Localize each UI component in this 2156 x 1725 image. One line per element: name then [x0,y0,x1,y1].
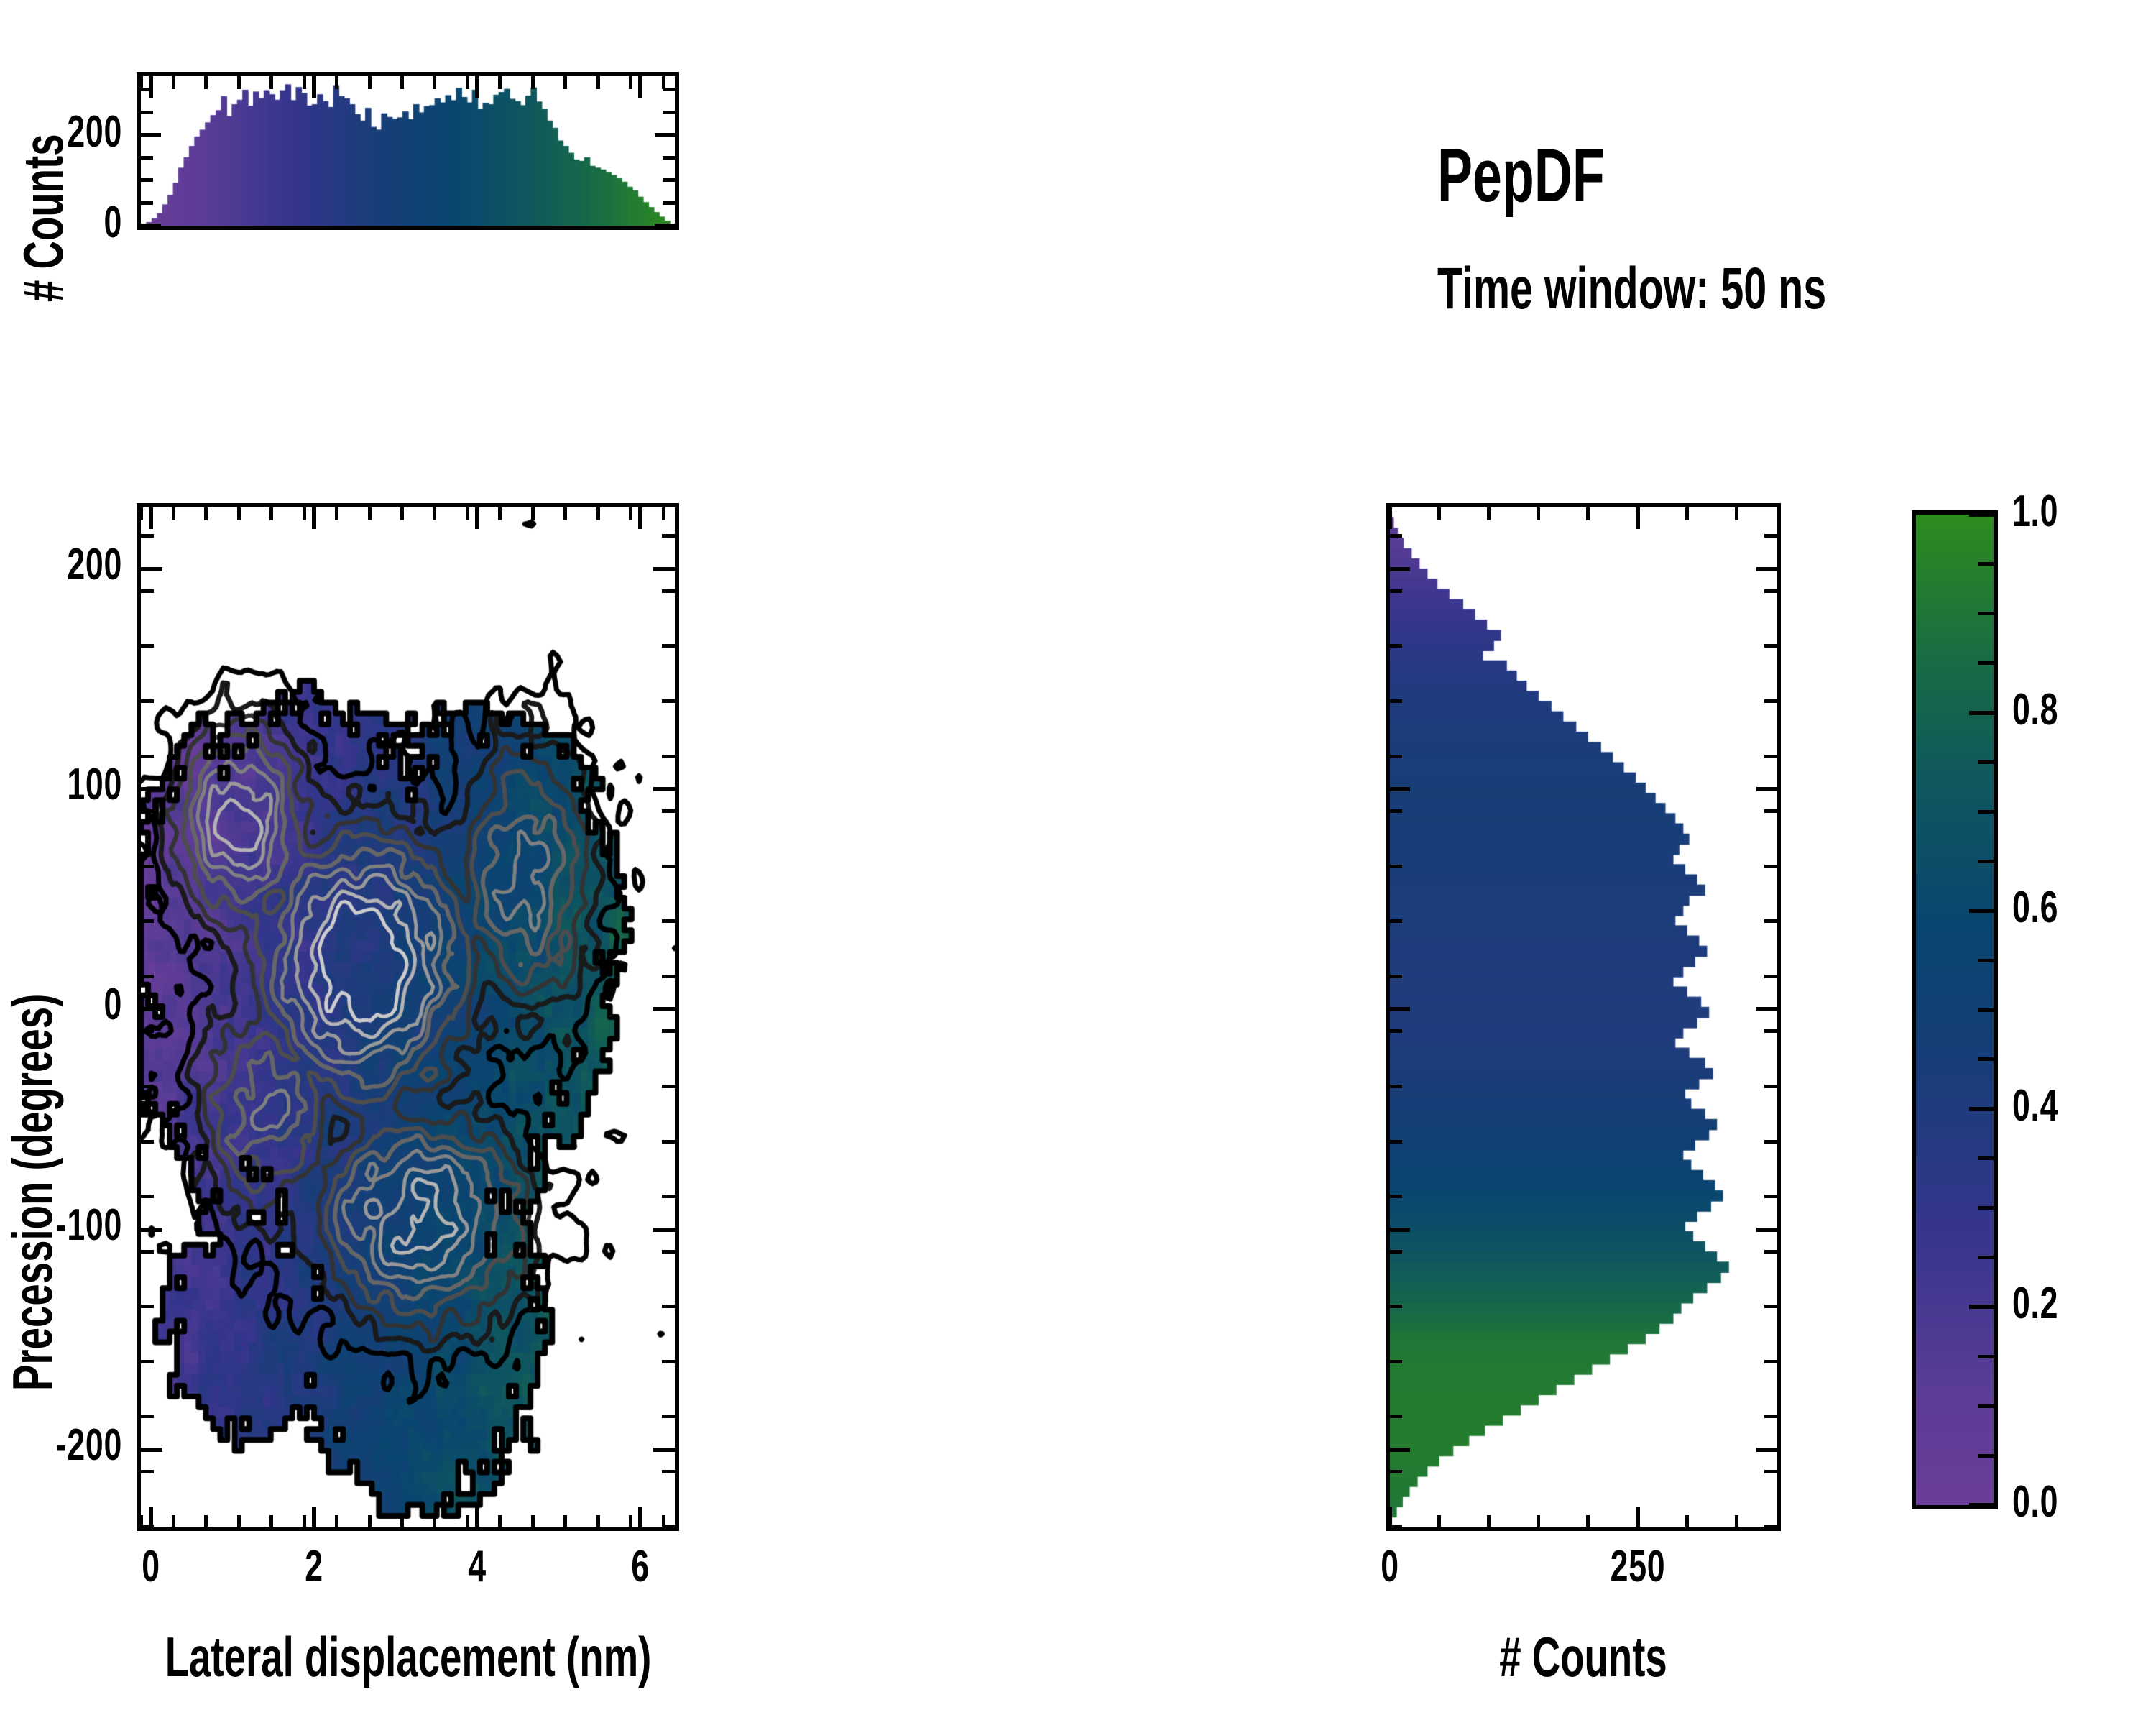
axis-tick [1487,507,1491,520]
axis-tick [1390,644,1402,648]
axis-tick [312,507,316,529]
axis-tick [475,507,479,529]
axis-tick [368,76,372,89]
axis-tick [531,1515,535,1528]
contour-overlay-canvas [141,507,675,1527]
axis-tick [1978,1404,1994,1408]
axis-tick [653,567,675,571]
main-xlabel: Lateral displacement (nm) [147,1624,670,1690]
axis-tick [141,1360,154,1363]
axis-tick [662,919,675,923]
axis-tick [400,507,404,520]
axis-tick [1978,562,1994,566]
axis-tick [139,76,143,89]
axis-tick [141,1228,162,1232]
colorbar-tick-label: 0.2 [2012,1278,2132,1329]
axis-tick [466,1515,469,1528]
colorbar-tick-label: 0.6 [2012,882,2132,933]
axis-tick [662,1470,675,1473]
axis-tick [141,111,153,114]
axis-tick [141,1195,154,1198]
axis-tick [466,76,469,89]
axis-tick [1390,1250,1402,1253]
axis-tick [141,156,153,160]
axis-tick [1390,975,1402,978]
right-histogram-canvas [1390,507,1777,1527]
axis-tick [1764,755,1777,758]
axis-tick [1764,975,1777,978]
axis-tick [638,507,642,529]
axis-tick [1764,1525,1777,1529]
axis-tick [141,1029,154,1033]
axis-tick [1390,589,1402,593]
axis-tick [269,507,273,520]
axis-tick [1390,1525,1402,1529]
axis-tick [596,1515,600,1528]
axis-tick [1437,1515,1441,1528]
figure-root: 0200 # Counts 02462001000-100-200 Latera… [0,0,2156,1725]
axis-tick [1756,1448,1777,1452]
axis-tick [1978,760,1994,764]
axis-tick [563,76,567,89]
axis-tick [563,1515,567,1528]
axis-tick [303,1515,306,1528]
axis-tick [237,507,241,520]
axis-tick [498,507,502,520]
axis-tick [1586,507,1590,520]
axis-tick [1437,507,1441,520]
colorbar-tick-label: 1.0 [2012,486,2132,537]
axis-tick [1390,809,1402,813]
axis-tick [1537,507,1540,520]
axis-tick [662,76,665,89]
axis-tick [1756,787,1777,791]
axis-tick [1735,507,1738,520]
axis-tick [433,507,436,520]
axis-tick [1764,589,1777,593]
main-ylabel: Precession (degrees) [0,994,65,1391]
axis-tick [662,1085,675,1088]
axis-tick [662,1305,675,1308]
axis-tick [1487,1515,1491,1528]
axis-tick [655,224,675,228]
axis-tick [629,76,632,89]
right-x-tick-label: 0 [1333,1541,1447,1592]
axis-tick [335,76,338,89]
axis-tick [662,507,665,520]
axis-tick [638,76,642,98]
axis-tick [141,133,161,137]
axis-tick [1390,1414,1402,1418]
axis-tick [303,507,306,520]
axis-tick [1969,1107,1994,1111]
axis-tick [141,1250,154,1253]
y-tick-label: 200 [0,539,122,590]
axis-tick [1764,1195,1777,1198]
axis-tick [1390,1085,1402,1088]
axis-tick [141,567,162,571]
axis-tick [663,178,675,182]
axis-tick [141,919,154,923]
axis-tick [1756,1007,1777,1011]
axis-tick [662,644,675,648]
axis-tick [663,201,675,205]
axis-tick [1390,534,1402,538]
axis-tick [141,534,154,538]
axis-tick [1978,1057,1994,1061]
axis-tick [141,644,154,648]
x-tick-label: 2 [257,1541,371,1592]
axis-tick [400,76,404,89]
axis-tick [1390,787,1410,791]
colorbar-tick-label: 0.0 [2012,1476,2132,1527]
axis-tick [141,178,153,182]
axis-tick [1978,661,1994,665]
axis-tick [312,1506,316,1528]
axis-tick [237,1515,241,1528]
axis-tick [149,507,153,529]
axis-tick [141,1085,154,1088]
axis-tick [475,1506,479,1528]
axis-tick [1390,699,1402,703]
top-histogram-canvas [141,76,675,226]
axis-tick [655,133,675,137]
axis-tick [204,1515,208,1528]
axis-tick [141,865,154,868]
axis-tick [400,1515,404,1528]
y-tick-label: -200 [0,1420,122,1471]
axis-tick [1978,1156,1994,1160]
x-tick-label: 6 [584,1541,697,1592]
axis-tick [1764,1414,1777,1418]
axis-tick [662,1029,675,1033]
axis-tick [662,975,675,978]
axis-tick [433,76,436,89]
axis-tick [662,1250,675,1253]
axis-tick [662,1525,675,1529]
axis-tick [141,699,154,703]
axis-tick [1969,512,1994,517]
axis-tick [662,1140,675,1144]
axis-tick [596,507,600,520]
axis-tick [1388,507,1392,529]
axis-tick [312,76,316,98]
axis-tick [1764,1360,1777,1363]
axis-tick [563,507,567,520]
axis-tick [141,1007,162,1011]
axis-tick [662,1195,675,1198]
axis-tick [141,787,162,791]
axis-tick [172,1515,175,1528]
axis-tick [1764,1470,1777,1473]
axis-tick [1756,1228,1777,1232]
axis-tick [1390,1029,1402,1033]
top-histogram-axes [137,72,679,230]
axis-tick [498,1515,502,1528]
axis-tick [1764,1140,1777,1144]
axis-tick [1969,711,1994,715]
axis-tick [629,507,632,520]
axis-tick [1636,507,1640,529]
axis-tick [1764,865,1777,868]
axis-tick [531,507,535,520]
axis-tick [1735,1515,1738,1528]
axis-tick [1969,1503,1994,1507]
axis-tick [1764,534,1777,538]
axis-tick [141,589,154,593]
axis-tick [1969,1305,1994,1309]
right-histogram-axes [1386,503,1781,1531]
axis-tick [1636,1506,1640,1528]
axis-tick [1978,612,1994,615]
axis-tick [638,1506,642,1528]
axis-tick [596,76,600,89]
axis-tick [204,507,208,520]
axis-tick [237,76,241,89]
axis-tick [1969,908,1994,913]
axis-tick [1978,1454,1994,1458]
axis-tick [1764,809,1777,813]
axis-tick [1978,1206,1994,1210]
axis-tick [662,865,675,868]
axis-tick [1685,507,1689,520]
axis-tick [1390,1228,1410,1232]
axis-tick [1978,1008,1994,1012]
colorbar-tick-label: 0.4 [2012,1080,2132,1131]
y-tick-label: 100 [0,759,122,810]
axis-tick [141,1305,154,1308]
colorbar-tick-label: 0.8 [2012,684,2132,735]
axis-tick [172,76,175,89]
axis-tick [1978,810,1994,814]
axis-tick [303,76,306,89]
x-tick-label: 0 [93,1541,207,1592]
axis-tick [269,76,273,89]
axis-tick [1978,959,1994,962]
axis-tick [662,755,675,758]
axis-tick [663,111,675,114]
axis-tick [662,1360,675,1363]
top-histogram-ylabel: # Counts [11,134,76,302]
main-heatmap-axes [137,503,679,1531]
axis-tick [149,76,153,98]
axis-tick [1764,1250,1777,1253]
axis-tick [1764,644,1777,648]
axis-tick [1685,1515,1689,1528]
axis-tick [368,1515,372,1528]
axis-tick [653,1228,675,1232]
axis-tick [662,699,675,703]
axis-tick [141,1470,154,1473]
axis-tick [141,755,154,758]
axis-tick [1390,1470,1402,1473]
axis-tick [1978,1256,1994,1259]
axis-tick [662,809,675,813]
axis-tick [1764,1305,1777,1308]
axis-tick [368,507,372,520]
figure-title: PepDF [1437,133,1605,219]
axis-tick [662,589,675,593]
axis-tick [1390,865,1402,868]
axis-tick [172,507,175,520]
axis-tick [141,1525,154,1529]
axis-tick [1978,1355,1994,1358]
axis-tick [1764,699,1777,703]
axis-tick [1764,1085,1777,1088]
right-x-tick-label: 250 [1581,1541,1695,1592]
axis-tick [662,534,675,538]
axis-tick [1390,1007,1410,1011]
axis-tick [1764,919,1777,923]
axis-tick [433,1515,436,1528]
axis-tick [1978,860,1994,863]
axis-tick [466,507,469,520]
axis-tick [1390,1140,1402,1144]
axis-tick [1390,567,1410,571]
axis-tick [1390,1195,1402,1198]
axis-tick [139,507,143,520]
axis-tick [141,1140,154,1144]
axis-tick [653,1448,675,1452]
axis-tick [1390,755,1402,758]
axis-tick [335,507,338,520]
axis-tick [141,975,154,978]
axis-tick [1537,1515,1540,1528]
axis-tick [1756,567,1777,571]
axis-tick [653,787,675,791]
axis-tick [1390,1305,1402,1308]
axis-tick [335,1515,338,1528]
axis-tick [141,224,161,228]
x-tick-label: 4 [420,1541,534,1592]
axis-tick [663,156,675,160]
axis-tick [498,76,502,89]
axis-tick [141,809,154,813]
axis-tick [141,1448,162,1452]
axis-tick [1390,1448,1410,1452]
axis-tick [269,1515,273,1528]
axis-tick [475,76,479,98]
axis-tick [531,76,535,89]
axis-tick [662,1414,675,1418]
axis-tick [1764,1029,1777,1033]
axis-tick [1390,1360,1402,1363]
right-histogram-xlabel: # Counts [1382,1624,1784,1690]
axis-tick [629,1515,632,1528]
axis-tick [204,76,208,89]
axis-tick [141,201,153,205]
axis-tick [141,1414,154,1418]
figure-subtitle: Time window: 50 ns [1437,255,1826,323]
axis-tick [653,1007,675,1011]
axis-tick [1390,919,1402,923]
axis-tick [1586,1515,1590,1528]
